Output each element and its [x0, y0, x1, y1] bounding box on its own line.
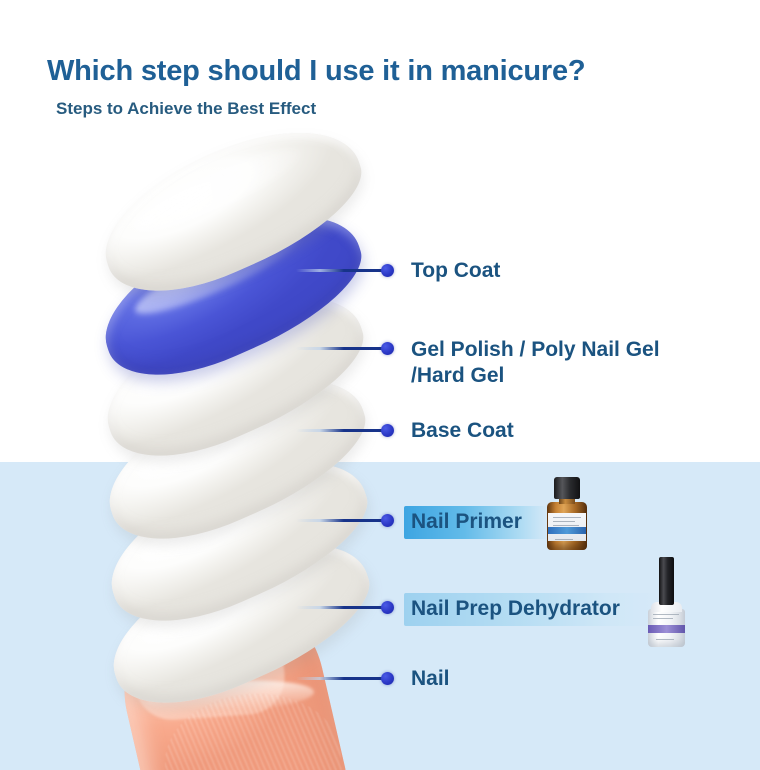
leader-line-base-coat — [296, 429, 388, 432]
label-gel-polish: Gel Polish / Poly Nail Gel /Hard Gel — [411, 337, 660, 388]
dehydrator-bottle-cap — [659, 557, 674, 605]
primer-bottle-cap — [554, 477, 580, 499]
infographic-canvas: Which step should I use it in manicure? … — [0, 0, 760, 770]
label-nail: Nail — [411, 666, 450, 692]
leader-line-nail-primer — [296, 519, 388, 522]
leader-dot-gel-polish — [381, 342, 394, 355]
label-top-coat: Top Coat — [411, 258, 500, 284]
primer-label-bottom-text — [555, 539, 573, 540]
leader-line-nail — [296, 677, 388, 680]
leader-dot-dehydrator — [381, 601, 394, 614]
label-nail-primer: Nail Primer — [404, 506, 548, 539]
leader-dot-nail — [381, 672, 394, 685]
leader-dot-nail-primer — [381, 514, 394, 527]
layer-sheen — [130, 137, 304, 242]
primer-bottle-image — [541, 477, 593, 555]
dehydrator-bottle-band — [648, 625, 685, 633]
leader-line-top-coat — [296, 269, 388, 272]
label-base-coat: Base Coat — [411, 418, 514, 444]
leader-line-dehydrator — [296, 606, 388, 609]
dehydrator-label-bottom-text — [656, 639, 674, 640]
label-nail-prep-dehydrator: Nail Prep Dehydrator — [404, 593, 658, 626]
dehydrator-bottle-image — [643, 557, 693, 651]
leader-line-gel-polish — [296, 347, 388, 350]
leader-dot-base-coat — [381, 424, 394, 437]
leader-dot-top-coat — [381, 264, 394, 277]
primer-bottle-band — [548, 527, 586, 534]
